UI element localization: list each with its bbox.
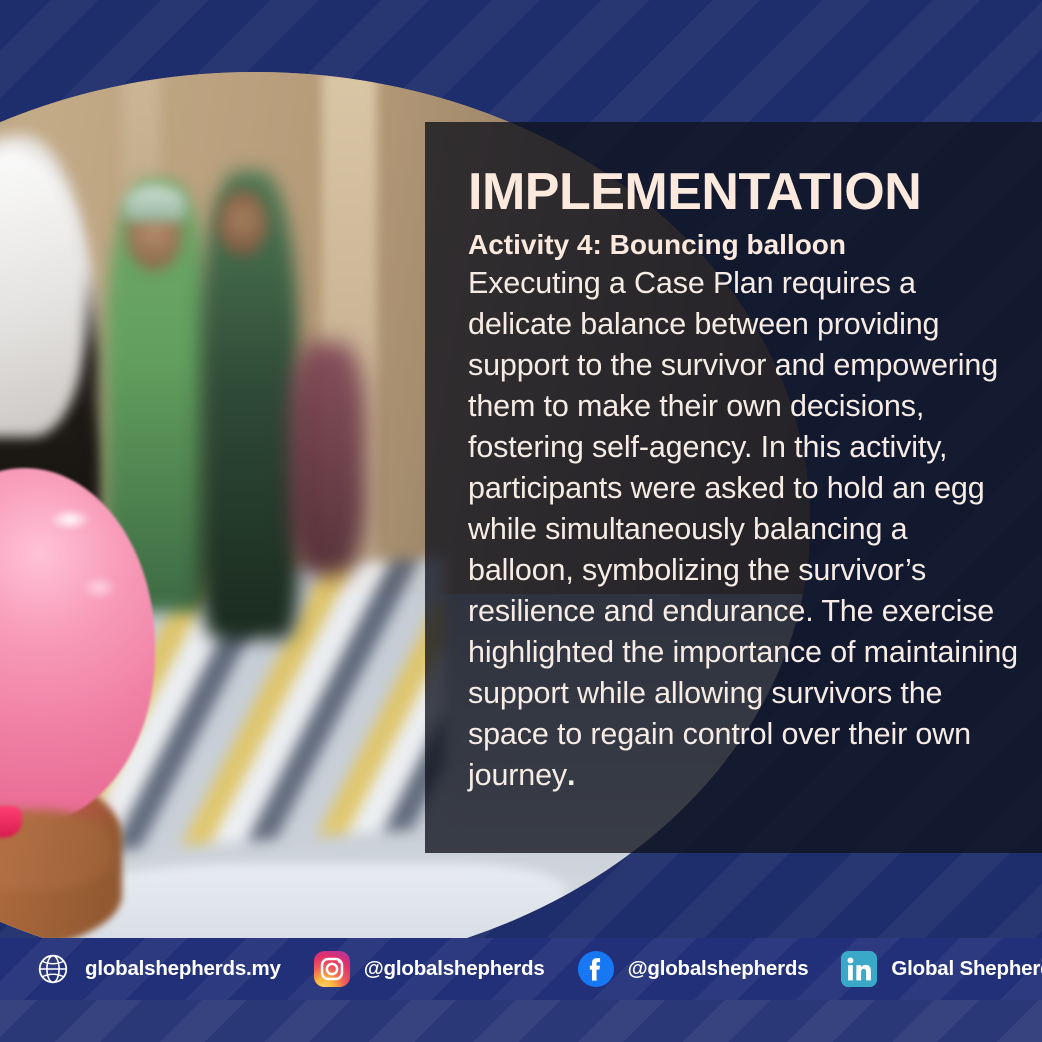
facebook-handle: @globalshepherds: [628, 957, 809, 981]
social-item-linkedin[interactable]: Global Shepherds: [840, 950, 1042, 988]
pink-balloon-highlight: [50, 509, 90, 531]
blurred-headscarf-b: [124, 185, 186, 223]
page-title: IMPLEMENTATION: [468, 165, 1020, 219]
instagram-handle: @globalshepherds: [364, 957, 545, 981]
linkedin-handle: Global Shepherds: [891, 957, 1042, 981]
bottom-stripe-texture: [0, 1000, 1042, 1042]
body-paragraph-text: Executing a Case Plan requires a delicat…: [468, 266, 1018, 792]
instagram-icon: [313, 950, 351, 988]
facebook-icon: [577, 950, 615, 988]
body-paragraph-period: .: [567, 758, 575, 792]
social-item-instagram[interactable]: @globalshepherds: [313, 950, 545, 988]
social-media-post: IMPLEMENTATION Activity 4: Bouncing ball…: [0, 0, 1042, 1042]
linkedin-icon: [840, 950, 878, 988]
blurred-person-background: [288, 342, 366, 576]
social-item-website[interactable]: globalshepherds.my: [34, 950, 281, 988]
text-content: IMPLEMENTATION Activity 4: Bouncing ball…: [468, 165, 1020, 796]
activity-subheading: Activity 4: Bouncing balloon: [468, 229, 1020, 261]
globe-icon: [34, 950, 72, 988]
social-item-facebook[interactable]: @globalshepherds: [577, 950, 809, 988]
blurred-face-c: [217, 189, 268, 256]
website-handle: globalshepherds.my: [85, 957, 281, 981]
social-footer-bar: globalshepherds.my @globalsh: [0, 938, 1042, 1000]
bottom-stripe-band: [0, 1000, 1042, 1042]
body-paragraph: Executing a Case Plan requires a delicat…: [468, 263, 1020, 796]
